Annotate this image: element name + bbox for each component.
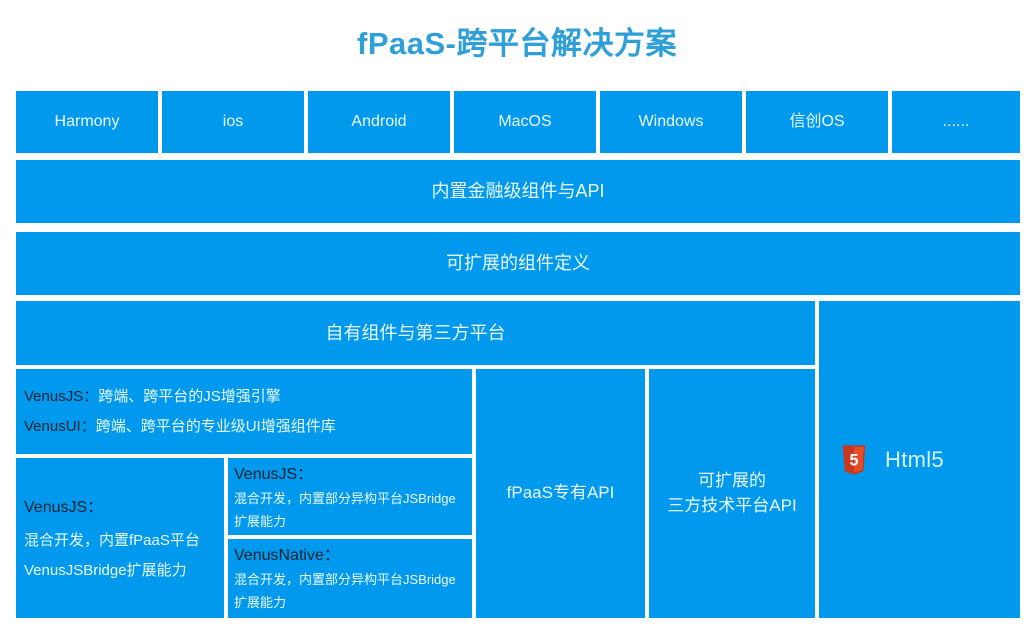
- band-own-and-third-party[interactable]: 自有组件与第三方平台: [16, 301, 815, 365]
- venus-hybrid-left-line-2: VenusJSBridge扩展能力: [24, 556, 187, 586]
- os-cell-more[interactable]: ......: [892, 91, 1020, 153]
- os-cell-android[interactable]: Android: [308, 91, 450, 153]
- stacked-box-line-1: 混合开发，内置部分异构平台JSBridge: [234, 488, 456, 511]
- venusui-text: 跨端、跨平台的专业级UI增强组件库: [96, 418, 336, 435]
- stacked-box-line-2: 扩展能力: [234, 511, 286, 534]
- band-extensible-component-definition[interactable]: 可扩展的组件定义: [16, 232, 1020, 295]
- venus-hybrid-left-header: VenusJS：: [24, 490, 103, 525]
- os-cell-label: MacOS: [498, 110, 551, 133]
- band-builtin-components-api[interactable]: 内置金融级组件与API: [16, 160, 1020, 223]
- stacked-box-venusjs[interactable]: VenusJS： 混合开发，内置部分异构平台JSBridge 扩展能力: [228, 458, 472, 535]
- venus-hybrid-left-line-1: 混合开发，内置fPaaS平台: [24, 526, 200, 556]
- svg-text:5: 5: [849, 451, 858, 469]
- os-cell-ios[interactable]: ios: [162, 91, 304, 153]
- venusjs-text: 跨端、跨平台的JS增强引擎: [98, 388, 281, 405]
- html5-label: Html5: [885, 444, 944, 476]
- panel-html5[interactable]: 5 Html5: [819, 301, 1020, 618]
- stacked-box-venusnative[interactable]: VenusNative： 混合开发，内置部分异构平台JSBridge 扩展能力: [228, 539, 472, 618]
- os-cell-label: ios: [223, 110, 243, 133]
- column-label: fPaaS专有API: [507, 481, 615, 506]
- venus-description-box[interactable]: VenusJS：跨端、跨平台的JS增强引擎 VenusUI：跨端、跨平台的专业级…: [16, 369, 472, 454]
- venus-hybrid-left-box[interactable]: VenusJS： 混合开发，内置fPaaS平台 VenusJSBridge扩展能…: [16, 458, 224, 618]
- page-title: fPaaS-跨平台解决方案: [0, 18, 1034, 63]
- venusjs-label: VenusJS：: [24, 388, 98, 405]
- band-label: 可扩展的组件定义: [446, 250, 590, 276]
- venusui-label: VenusUI：: [24, 418, 96, 435]
- band-label: 自有组件与第三方平台: [326, 320, 506, 346]
- os-cell-label: Windows: [639, 110, 704, 133]
- os-cell-windows[interactable]: Windows: [600, 91, 742, 153]
- column-fpaas-proprietary-api[interactable]: fPaaS专有API: [476, 369, 645, 618]
- stacked-box-line-1: 混合开发，内置部分异构平台JSBridge: [234, 569, 456, 592]
- band-label: 内置金融级组件与API: [431, 178, 604, 204]
- html5-logo-icon: 5: [841, 444, 867, 476]
- venus-desc-line-1: VenusJS：跨端、跨平台的JS增强引擎: [24, 382, 281, 412]
- os-cell-macos[interactable]: MacOS: [454, 91, 596, 153]
- os-cell-label: ......: [943, 110, 970, 133]
- stacked-box-header: VenusJS：: [234, 462, 313, 488]
- os-cell-label: Android: [351, 110, 406, 133]
- venus-desc-line-2: VenusUI：跨端、跨平台的专业级UI增强组件库: [24, 412, 336, 442]
- column-label-line-2: 三方技术平台API: [667, 494, 796, 519]
- os-cell-harmony[interactable]: Harmony: [16, 91, 158, 153]
- column-label-line-1: 可扩展的: [698, 469, 766, 494]
- stacked-box-header: VenusNative：: [234, 543, 340, 569]
- os-cell-xinchuang-os[interactable]: 信创OS: [746, 91, 888, 153]
- column-third-party-platform-api[interactable]: 可扩展的 三方技术平台API: [649, 369, 815, 618]
- stacked-box-line-2: 扩展能力: [234, 592, 286, 615]
- os-cell-label: Harmony: [55, 110, 120, 133]
- os-cell-label: 信创OS: [789, 110, 844, 133]
- diagram-canvas: fPaaS-跨平台解决方案 Harmony ios Android MacOS …: [0, 0, 1034, 634]
